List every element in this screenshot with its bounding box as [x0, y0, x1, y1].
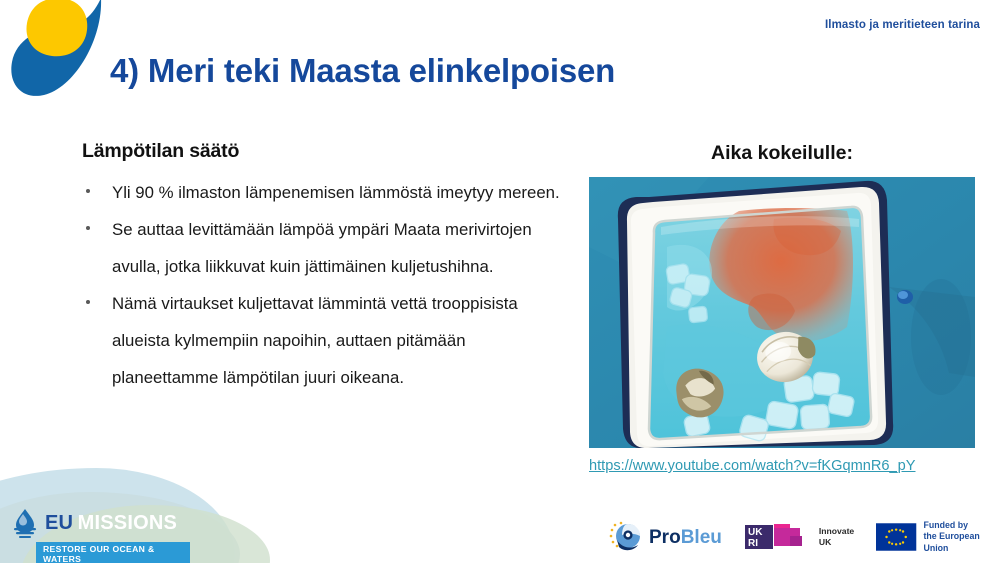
- innovate-uk-line2: UK: [819, 537, 854, 548]
- slide-canvas: Ilmasto ja meritieteen tarina 4) Meri te…: [0, 0, 1000, 563]
- eu-funding-logo: Funded by the European Union: [876, 520, 1000, 554]
- experiment-photo: [589, 177, 975, 448]
- eu-missions-logo: EU MISSIONS RESTORE OUR OCEAN & WATERS: [12, 508, 190, 556]
- probleu-globe-icon: [608, 521, 642, 553]
- bullet-dot-icon: [86, 226, 90, 230]
- svg-text:RI: RI: [748, 538, 758, 549]
- body-text-column: Lämpötilan säätö Yli 90 % ilmaston lämpe…: [82, 140, 574, 396]
- eu-funding-line1: Funded by: [924, 520, 1000, 531]
- bullet-dot-icon: [86, 300, 90, 304]
- list-item-text: Nämä virtaukset kuljettavat lämmintä vet…: [112, 294, 518, 387]
- innovate-uk-logo: UK RI Innovate UK: [744, 522, 854, 552]
- ukri-mark-icon: UK RI: [744, 522, 812, 552]
- section-subheading: Lämpötilan säätö: [82, 140, 574, 163]
- eu-missions-missions-text: MISSIONS: [78, 512, 177, 534]
- brand-logo-icon: [4, 0, 112, 100]
- footer-logo-strip: ProBleu UK RI Innovate UK: [608, 520, 1000, 554]
- video-link[interactable]: https://www.youtube.com/watch?v=fKGqmnR6…: [589, 458, 916, 474]
- photo-illustration: [589, 177, 975, 448]
- water-drop-icon: [12, 508, 38, 538]
- eu-missions-tagline: RESTORE OUR OCEAN & WATERS: [36, 542, 190, 563]
- probleu-text-pro: Pro: [649, 527, 681, 548]
- bullet-dot-icon: [86, 189, 90, 193]
- list-item-text: Yli 90 % ilmaston lämpenemisen lämmöstä …: [112, 183, 560, 202]
- list-item: Nämä virtaukset kuljettavat lämmintä vet…: [82, 285, 574, 396]
- header-kicker: Ilmasto ja meritieteen tarina: [825, 19, 980, 31]
- page-title: 4) Meri teki Maasta elinkelpoisen: [110, 52, 615, 90]
- eu-funding-line2: the European Union: [924, 531, 1000, 554]
- eu-flag-icon: [876, 522, 916, 552]
- list-item: Se auttaa levittämään lämpöä ympäri Maat…: [82, 211, 574, 285]
- innovate-uk-line1: Innovate: [819, 526, 854, 537]
- bullet-list: Yli 90 % ilmaston lämpenemisen lämmöstä …: [82, 174, 574, 396]
- svg-text:UK: UK: [748, 527, 763, 538]
- eu-missions-eu-text: EU: [45, 512, 73, 534]
- list-item-text: Se auttaa levittämään lämpöä ympäri Maat…: [112, 220, 532, 276]
- probleu-logo: ProBleu: [608, 521, 722, 553]
- probleu-text-bleu: Bleu: [681, 527, 722, 548]
- experiment-heading: Aika kokeilulle:: [589, 142, 975, 165]
- list-item: Yli 90 % ilmaston lämpenemisen lämmöstä …: [82, 174, 574, 211]
